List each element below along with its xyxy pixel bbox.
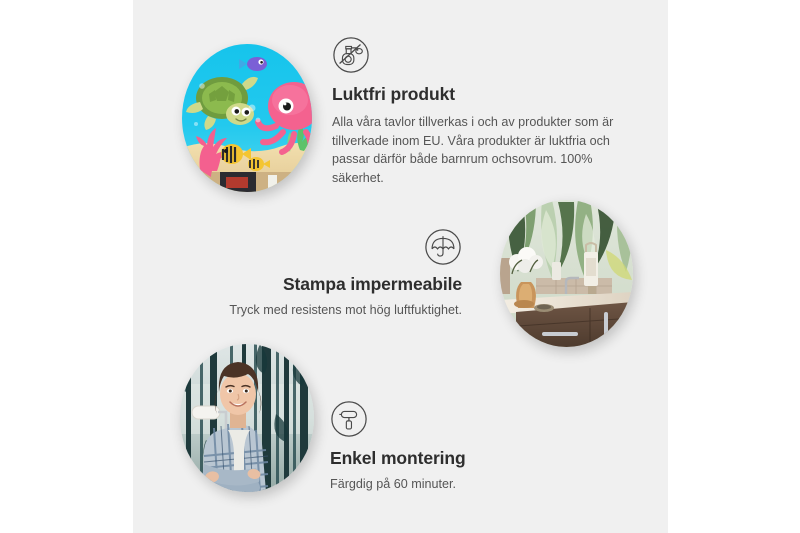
feature-title: Stampa impermeabile [200,274,462,296]
underwater-cartoon-scene-photo [182,44,312,192]
paint-roller-icon [330,400,368,438]
feature-luktfri-produkt: Luktfri produkt Alla våra tavlor tillver… [332,36,622,187]
screenshot-root: Luktfri produkt Alla våra tavlor tillver… [0,0,800,533]
no-scent-perfume-bottle-icon [332,36,370,74]
feature-title: Luktfri produkt [332,84,622,106]
feature-title: Enkel montering [330,448,580,470]
feature-stampa-impermeabile: Stampa impermeabile Tryck med resistens … [200,228,462,320]
feature-description: Tryck med resistens mot hög luftfuktighe… [200,301,462,320]
feature-enkel-montering: Enkel montering Färgdig på 60 minuter. [330,400,580,494]
feature-description: Alla våra tavlor tillverkas i och av pro… [332,113,622,188]
umbrella-icon [424,228,462,266]
woman-with-paint-roller-photo [180,344,314,492]
bathroom-interior-photo [500,200,633,347]
feature-description: Färgdig på 60 minuter. [330,475,580,494]
